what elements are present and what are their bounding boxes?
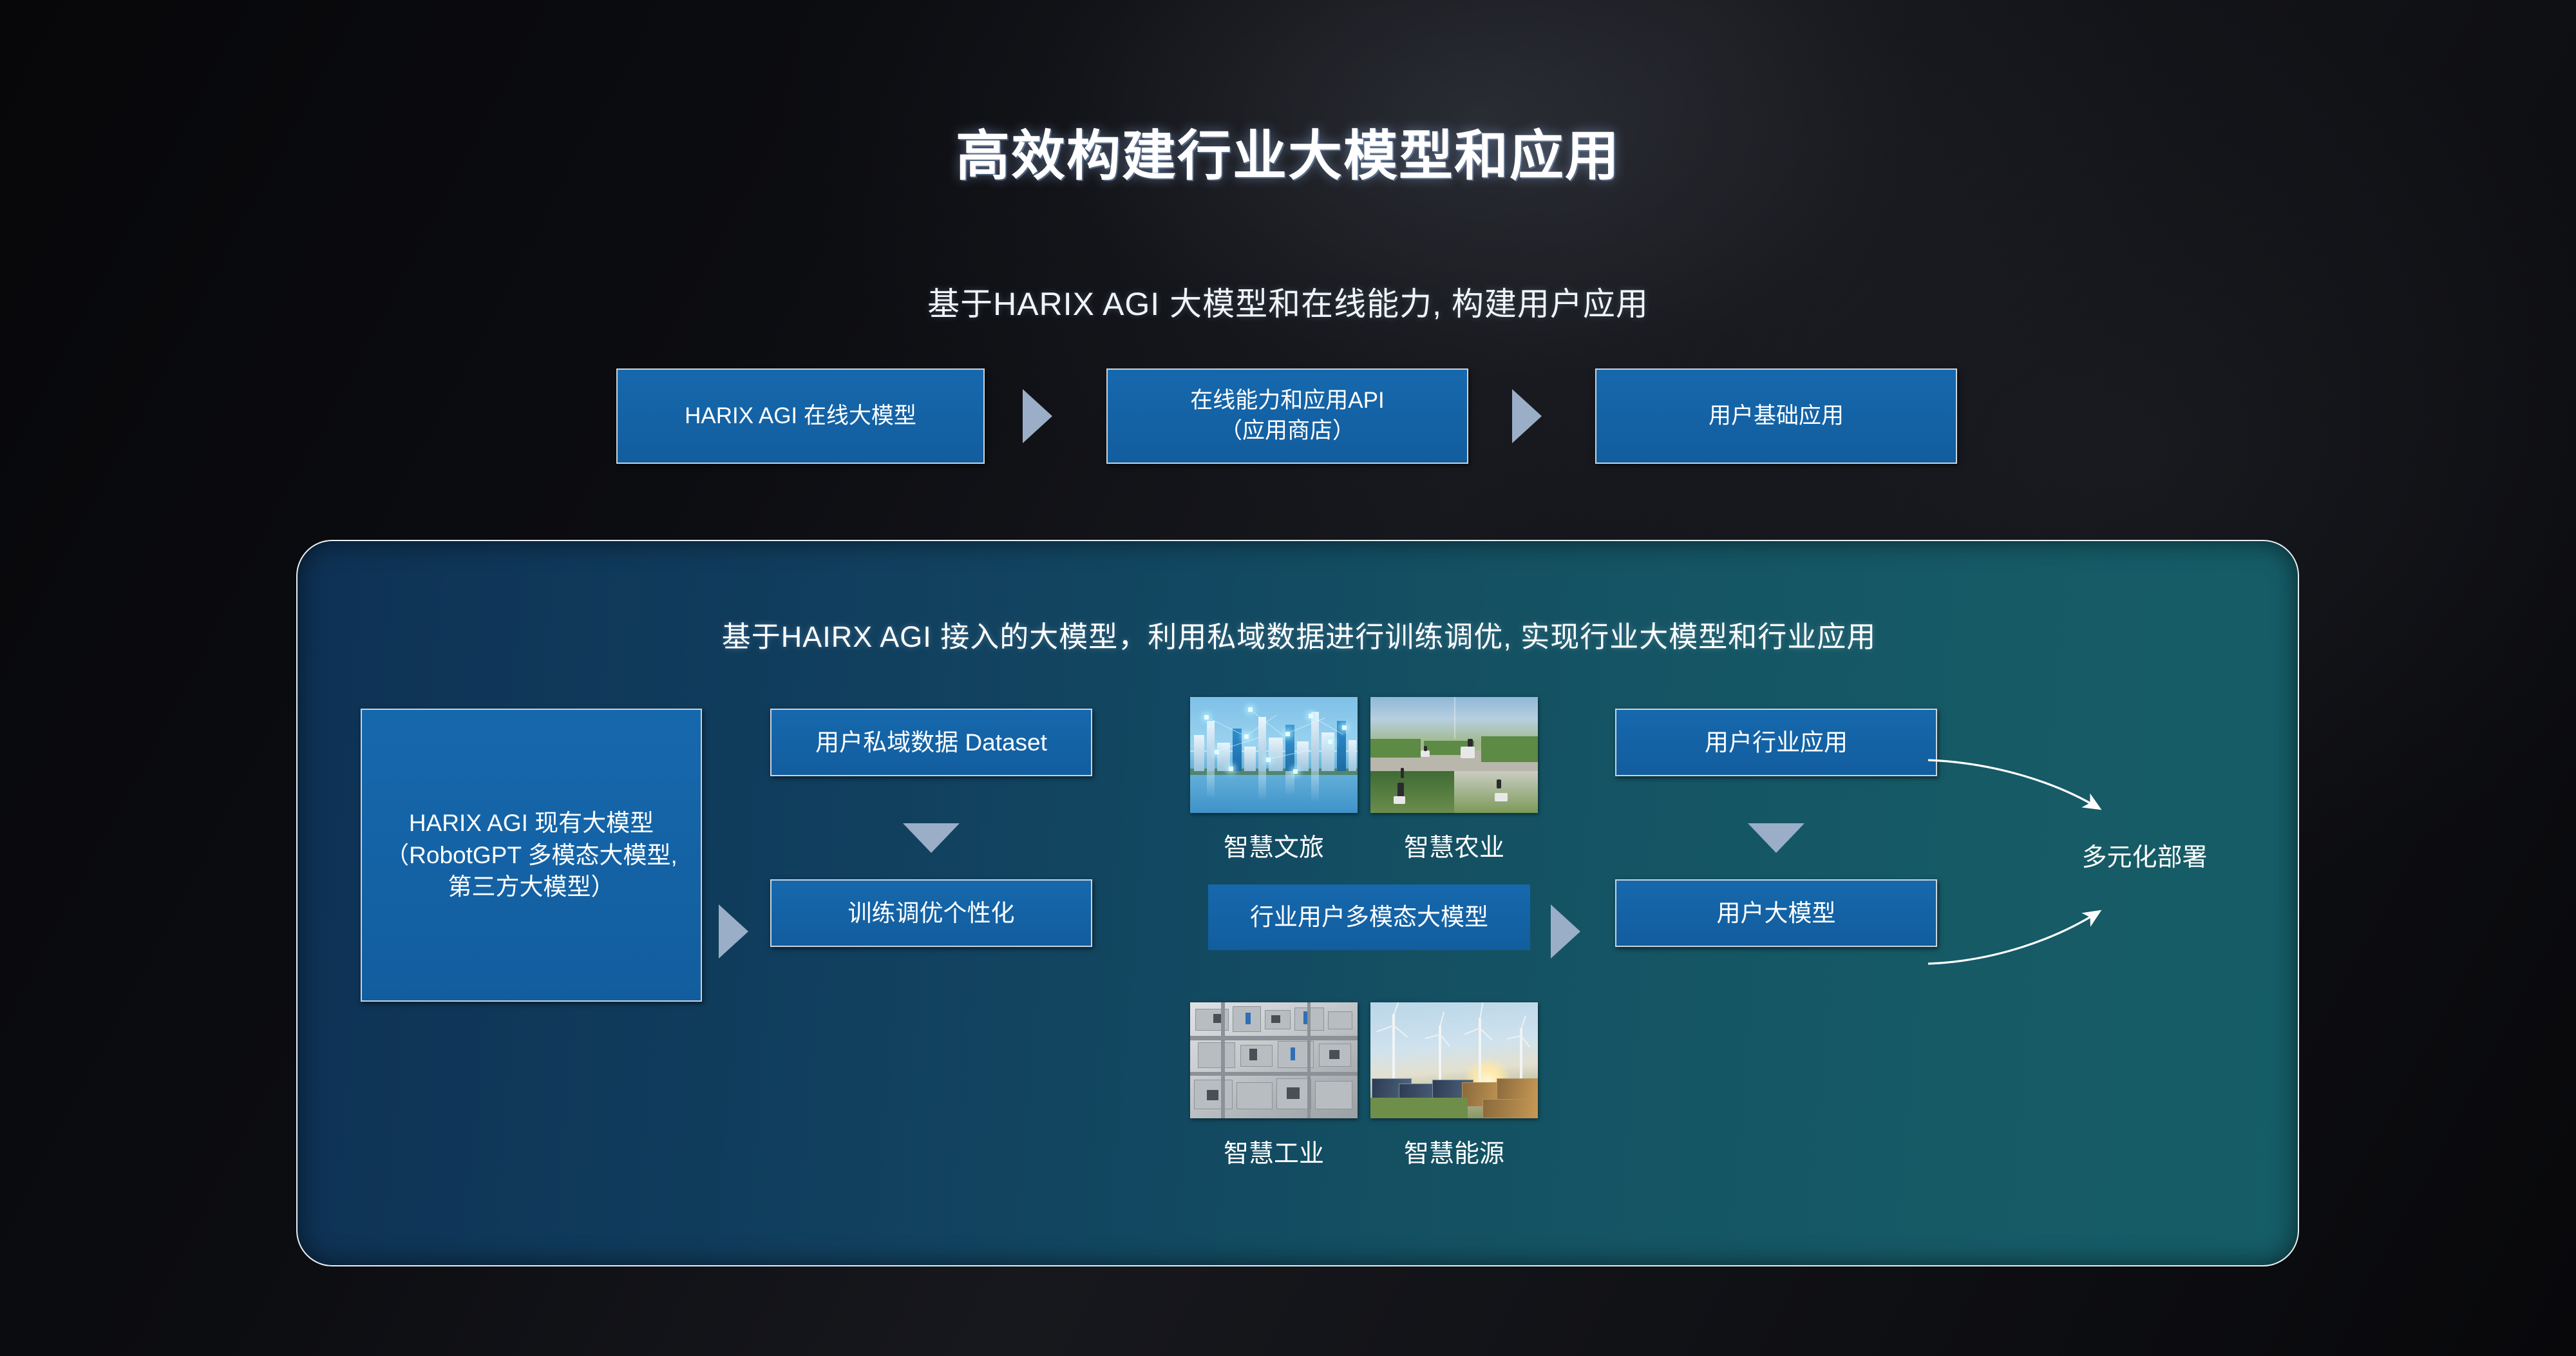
slide-canvas: 高效构建行业大模型和应用 基于HARIX AGI 大模型和在线能力, 构建用户应… [0,0,2576,1356]
agriculture-robot-image [1370,697,1538,813]
panel-header: 基于HAIRX AGI 接入的大模型，利用私域数据进行训练调优, 实现行业大模型… [298,613,2300,655]
triangle-right-icon-3 [719,904,748,959]
deploy-arrow-bottom [1928,912,2098,964]
top-flow-box-3[interactable]: 用户基础应用 [1595,368,1957,464]
user-large-model-label: 用户大模型 [1717,897,1836,930]
top-flow-box-2[interactable]: 在线能力和应用API （应用商店） [1106,368,1468,464]
triangle-down-icon-1 [903,823,960,853]
triangle-down-icon-2 [1748,823,1804,853]
triangle-right-icon-1 [1023,389,1052,443]
user-large-model-box[interactable]: 用户大模型 [1615,879,1937,947]
page-subtitle: 基于HARIX AGI 大模型和在线能力, 构建用户应用 [0,278,2576,325]
top-flow-box-1-label: HARIX AGI 在线大模型 [685,401,916,432]
thumbnail-caption-smart-industry: 智慧工业 [1177,1134,1370,1170]
thumbnail-smart-tourism[interactable] [1190,697,1358,813]
smart-city-image [1190,697,1358,813]
user-industry-app-box[interactable]: 用户行业应用 [1615,709,1937,776]
triangle-right-icon-2 [1512,389,1542,443]
top-flow-box-2-label-line2: （应用商店） [1220,416,1355,446]
top-flow-box-3-label: 用户基础应用 [1709,401,1844,432]
industrial-plant-image [1190,1002,1358,1118]
deployment-label: 多元化部署 [2041,837,2248,874]
triangle-right-icon-4 [1551,904,1580,959]
industry-multimodal-model-label: 行业用户多模态大模型 [1250,901,1488,933]
industry-multimodal-model-box[interactable]: 行业用户多模态大模型 [1208,884,1530,950]
training-tuning-label: 训练调优个性化 [848,897,1015,930]
private-dataset-box[interactable]: 用户私域数据 Dataset [770,709,1092,776]
harix-model-line1: HARIX AGI 现有大模型 [409,807,654,839]
private-dataset-label: 用户私域数据 Dataset [815,727,1047,759]
user-industry-app-label: 用户行业应用 [1705,727,1848,759]
top-flow-box-2-label-line1: 在线能力和应用API [1190,386,1384,416]
harix-existing-model-box[interactable]: HARIX AGI 现有大模型 （RobotGPT 多模态大模型, 第三方大模型… [361,709,702,1002]
harix-model-line2: （RobotGPT 多模态大模型, [385,839,677,872]
deploy-arrow-top [1928,760,2098,808]
top-flow-box-1[interactable]: HARIX AGI 在线大模型 [616,368,985,464]
wind-solar-energy-image [1370,1002,1538,1118]
thumbnail-smart-industry[interactable] [1190,1002,1358,1118]
thumbnail-smart-energy[interactable] [1370,1002,1538,1118]
page-title: 高效构建行业大模型和应用 [0,113,2576,191]
training-tuning-box[interactable]: 训练调优个性化 [770,879,1092,947]
thumbnail-smart-agriculture[interactable] [1370,697,1538,813]
harix-model-line3: 第三方大模型） [448,871,615,903]
thumbnail-caption-smart-tourism: 智慧文旅 [1177,828,1370,864]
thumbnail-caption-smart-energy: 智慧能源 [1358,1134,1551,1170]
thumbnail-caption-smart-agriculture: 智慧农业 [1358,828,1551,864]
